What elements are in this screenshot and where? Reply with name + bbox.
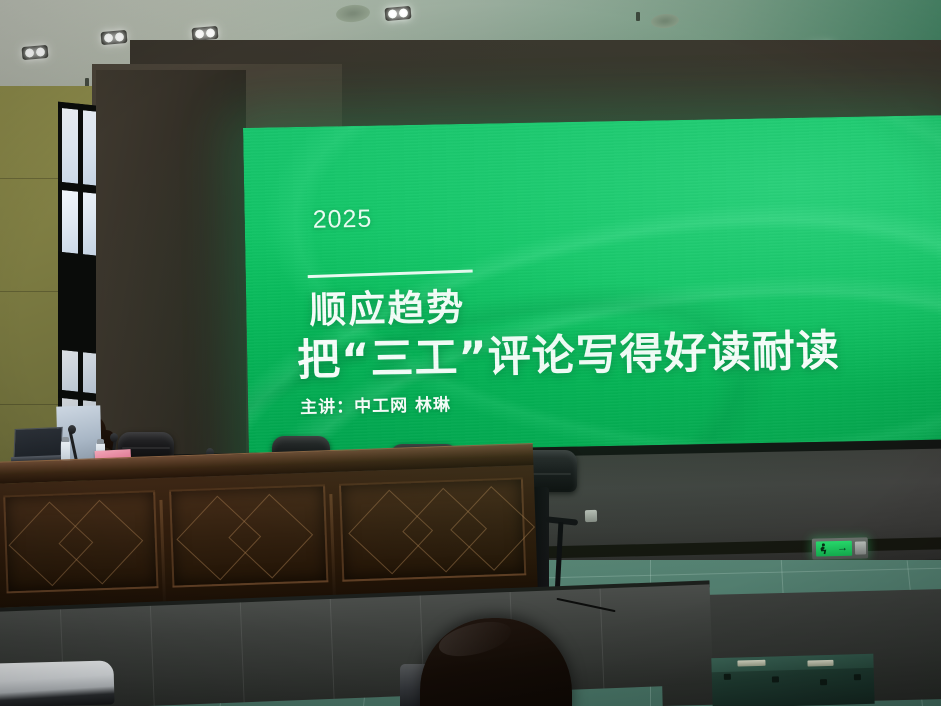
conference-hall-screenshot: 2025 顺应趋势 把“三工”评论写得好读耐读 主讲：中工网 林琳 → <box>0 0 941 706</box>
slide-content: 2025 顺应趋势 把“三工”评论写得好读耐读 主讲：中工网 林琳 <box>243 115 941 498</box>
slide-presenter-credit: 主讲：中工网 林琳 <box>300 390 451 418</box>
microphone-head <box>68 425 76 434</box>
equipment-bolt <box>854 674 861 680</box>
podium-panel <box>3 490 158 593</box>
equipment-plate <box>807 660 833 667</box>
podium-panel <box>339 477 526 581</box>
equipment-plate <box>737 660 765 667</box>
podium-diamond-motif <box>58 500 143 585</box>
podium-front-face <box>0 465 538 608</box>
equipment-bolt <box>820 679 827 685</box>
ceiling-downlight <box>191 26 218 41</box>
running-man-icon <box>820 543 829 554</box>
ceiling-downlight <box>384 6 411 21</box>
podium-panel <box>169 484 328 587</box>
led-presentation-screen: 2025 顺应趋势 把“三工”评论写得好读耐读 主讲：中工网 林琳 <box>243 115 941 498</box>
slide-year: 2025 <box>312 205 372 235</box>
stage-equipment-box <box>711 654 874 706</box>
equipment-bolt <box>724 674 731 680</box>
emergency-exit-sign: → <box>812 537 868 559</box>
white-chair-backrest <box>0 660 115 706</box>
slide-title-line-2: 把“三工”评论写得好读耐读 <box>297 316 841 388</box>
water-bottle-cap <box>62 437 69 442</box>
podium-diamond-motif <box>450 486 535 571</box>
ceiling-downlight <box>21 45 48 60</box>
podium-diamond-motif <box>228 494 313 579</box>
water-bottle-cap <box>97 439 104 444</box>
microphone-head <box>110 433 118 442</box>
wall-socket <box>585 510 597 522</box>
exit-sign-glow-panel: → <box>816 541 852 557</box>
ceiling-sprinkler <box>636 12 640 21</box>
ceiling-downlight <box>100 30 127 45</box>
exit-sign-endcap <box>855 541 866 554</box>
right-arrow-icon: → <box>837 543 848 554</box>
equipment-bolt <box>772 676 779 682</box>
